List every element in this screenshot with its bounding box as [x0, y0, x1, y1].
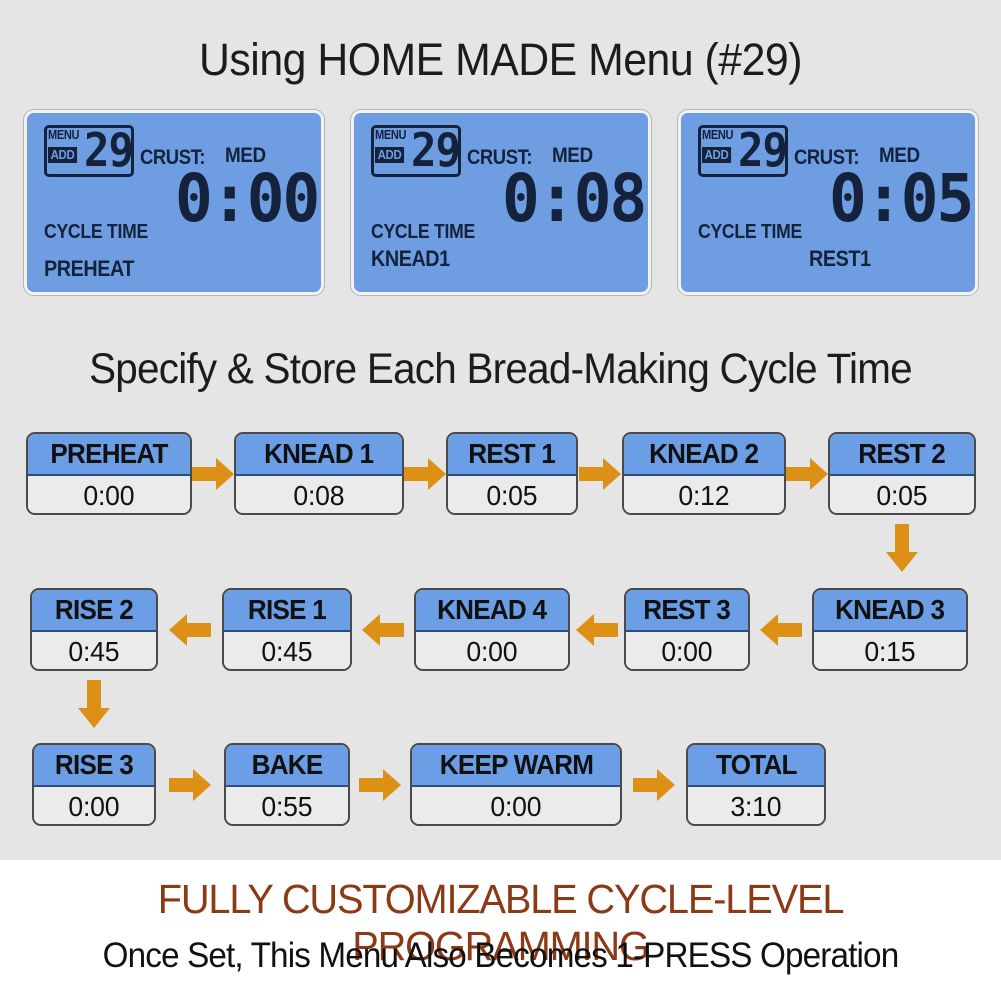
cycle-node-header: REST 2	[830, 434, 974, 476]
lcd-display-rest1: MENU ADD 29 CRUST: MED CYCLE TIME 0:05 R…	[678, 110, 978, 295]
cycle-node-label: KNEAD 2	[649, 438, 758, 470]
cycle-node-label: REST 3	[644, 594, 731, 626]
cycle-node-label: RISE 1	[248, 594, 326, 626]
arrow-right-icon	[192, 456, 234, 492]
arrow-left-icon	[362, 612, 404, 648]
menu-indicator-label: MENU	[702, 128, 733, 141]
cycle-time-value: 0:08	[502, 166, 645, 232]
cycle-node-time: 0:12	[678, 480, 729, 512]
cycle-node-label: KNEAD 3	[835, 594, 944, 626]
cycle-node[interactable]: KEEP WARM0:00	[410, 743, 622, 826]
cycle-node-body: 0:45	[32, 632, 156, 671]
cycle-node-label: REST 2	[859, 438, 946, 470]
cycle-node[interactable]: RISE 20:45	[30, 588, 158, 671]
menu-indicator-label: MENU	[375, 128, 406, 141]
cycle-node-label: KNEAD 4	[437, 594, 546, 626]
cycle-node-body: 0:55	[226, 787, 348, 826]
cycle-node-body: 0:00	[412, 787, 620, 826]
current-stage-label: REST1	[809, 246, 871, 272]
cycle-node-header: KEEP WARM	[412, 745, 620, 787]
cycle-node-time: 0:45	[68, 636, 119, 668]
cycle-node[interactable]: REST 10:05	[446, 432, 578, 515]
cycle-node-header: PREHEAT	[28, 434, 190, 476]
arrow-down-icon	[884, 524, 920, 572]
cycle-node-header: BAKE	[226, 745, 348, 787]
cycle-node-label: RISE 2	[55, 594, 133, 626]
cycle-time-label: CYCLE TIME	[44, 221, 148, 244]
cycle-node-time: 0:05	[486, 480, 537, 512]
add-indicator-label: ADD	[375, 147, 404, 163]
cycle-node-header: KNEAD 3	[814, 590, 966, 632]
current-stage-label: PREHEAT	[44, 256, 134, 282]
cycle-node-time: 0:55	[261, 791, 312, 823]
cycle-node[interactable]: KNEAD 40:00	[414, 588, 570, 671]
arrow-right-icon	[786, 456, 828, 492]
lcd-display-preheat: MENU ADD 29 CRUST: MED CYCLE TIME 0:00 P…	[24, 110, 324, 295]
cycle-node[interactable]: RISE 30:00	[32, 743, 156, 826]
cycle-node-time: 0:00	[490, 791, 541, 823]
add-indicator-label: ADD	[48, 147, 77, 163]
cycle-node-label: REST 1	[469, 438, 556, 470]
lcd-display-knead1: MENU ADD 29 CRUST: MED CYCLE TIME 0:08 K…	[351, 110, 651, 295]
cycle-node[interactable]: REST 20:05	[828, 432, 976, 515]
current-stage-label: KNEAD1	[371, 246, 450, 272]
infographic-page: Using HOME MADE Menu (#29) MENU ADD 29 C…	[0, 0, 1001, 1001]
cycle-node-header: KNEAD 4	[416, 590, 568, 632]
cycle-node[interactable]: BAKE0:55	[224, 743, 350, 826]
lcd-screen: MENU ADD 29 CRUST: MED CYCLE TIME 0:08 K…	[354, 113, 648, 292]
cycle-node-header: RISE 3	[34, 745, 154, 787]
cycle-node[interactable]: TOTAL3:10	[686, 743, 826, 826]
lcd-display-row: MENU ADD 29 CRUST: MED CYCLE TIME 0:00 P…	[0, 110, 1001, 300]
cycle-node-label: KEEP WARM	[439, 749, 592, 781]
cycle-node-time: 3:10	[730, 791, 781, 823]
cycle-node[interactable]: KNEAD 10:08	[234, 432, 404, 515]
menu-number-badge: MENU ADD 29	[371, 125, 461, 177]
arrow-right-icon	[633, 767, 675, 803]
cycle-node-body: 0:05	[448, 476, 576, 515]
cycle-node-header: RISE 1	[224, 590, 350, 632]
cycle-node-header: KNEAD 1	[236, 434, 402, 476]
cycle-node[interactable]: RISE 10:45	[222, 588, 352, 671]
cycle-node-body: 0:00	[626, 632, 748, 671]
arrow-right-icon	[579, 456, 621, 492]
menu-number-value: 29	[411, 127, 460, 173]
cycle-node[interactable]: KNEAD 20:12	[622, 432, 786, 515]
cycle-node-body: 0:00	[28, 476, 190, 515]
menu-number-badge: MENU ADD 29	[44, 125, 134, 177]
cycle-node-time: 0:00	[68, 791, 119, 823]
cycle-node-body: 0:45	[224, 632, 350, 671]
cycle-node-header: TOTAL	[688, 745, 824, 787]
arrow-left-icon	[576, 612, 618, 648]
cycle-node-label: BAKE	[252, 749, 323, 781]
cycle-node[interactable]: PREHEAT0:00	[26, 432, 192, 515]
arrow-right-icon	[404, 456, 446, 492]
arrow-right-icon	[359, 767, 401, 803]
cycle-node-label: PREHEAT	[50, 438, 167, 470]
cycle-node-label: RISE 3	[55, 749, 133, 781]
cycle-time-value: 0:00	[175, 166, 318, 232]
footer-panel: FULLY CUSTOMIZABLE CYCLE-LEVEL PROGRAMMI…	[0, 860, 1001, 1001]
cycle-node-time: 0:45	[261, 636, 312, 668]
arrow-right-icon	[169, 767, 211, 803]
lcd-screen: MENU ADD 29 CRUST: MED CYCLE TIME 0:00 P…	[27, 113, 321, 292]
section-subtitle: Specify & Store Each Bread-Making Cycle …	[30, 345, 971, 394]
cycle-node-time: 0:00	[83, 480, 134, 512]
cycle-node-body: 0:12	[624, 476, 784, 515]
lcd-screen: MENU ADD 29 CRUST: MED CYCLE TIME 0:05 R…	[681, 113, 975, 292]
arrow-down-icon	[76, 680, 112, 728]
cycle-node-header: REST 3	[626, 590, 748, 632]
arrow-left-icon	[169, 612, 211, 648]
cycle-node-label: KNEAD 1	[264, 438, 373, 470]
cycle-node-time: 0:15	[864, 636, 915, 668]
cycle-node[interactable]: REST 30:00	[624, 588, 750, 671]
cycle-flow-chart: PREHEAT0:00KNEAD 10:08REST 10:05KNEAD 20…	[0, 415, 1001, 845]
cycle-node-label: TOTAL	[716, 749, 797, 781]
page-title: Using HOME MADE Menu (#29)	[25, 34, 976, 86]
cycle-node-time: 0:00	[661, 636, 712, 668]
cycle-node-body: 0:08	[236, 476, 402, 515]
cycle-node-body: 0:00	[34, 787, 154, 826]
arrow-left-icon	[760, 612, 802, 648]
cycle-node-header: KNEAD 2	[624, 434, 784, 476]
menu-indicator-label: MENU	[48, 128, 79, 141]
cycle-node[interactable]: KNEAD 30:15	[812, 588, 968, 671]
cycle-node-body: 0:00	[416, 632, 568, 671]
cycle-node-time: 0:00	[466, 636, 517, 668]
cycle-node-body: 0:15	[814, 632, 966, 671]
cycle-node-time: 0:08	[293, 480, 344, 512]
menu-number-value: 29	[84, 127, 133, 173]
footer-subline: Once Set, This Menu Also Becomes 1-PRESS…	[25, 936, 976, 976]
cycle-node-body: 0:05	[830, 476, 974, 515]
cycle-node-header: RISE 2	[32, 590, 156, 632]
cycle-time-label: CYCLE TIME	[371, 221, 475, 244]
cycle-node-header: REST 1	[448, 434, 576, 476]
cycle-time-label: CYCLE TIME	[698, 221, 802, 244]
menu-number-value: 29	[738, 127, 787, 173]
menu-number-badge: MENU ADD 29	[698, 125, 788, 177]
cycle-node-time: 0:05	[876, 480, 927, 512]
cycle-time-value: 0:05	[829, 166, 972, 232]
cycle-node-body: 3:10	[688, 787, 824, 826]
add-indicator-label: ADD	[702, 147, 731, 163]
